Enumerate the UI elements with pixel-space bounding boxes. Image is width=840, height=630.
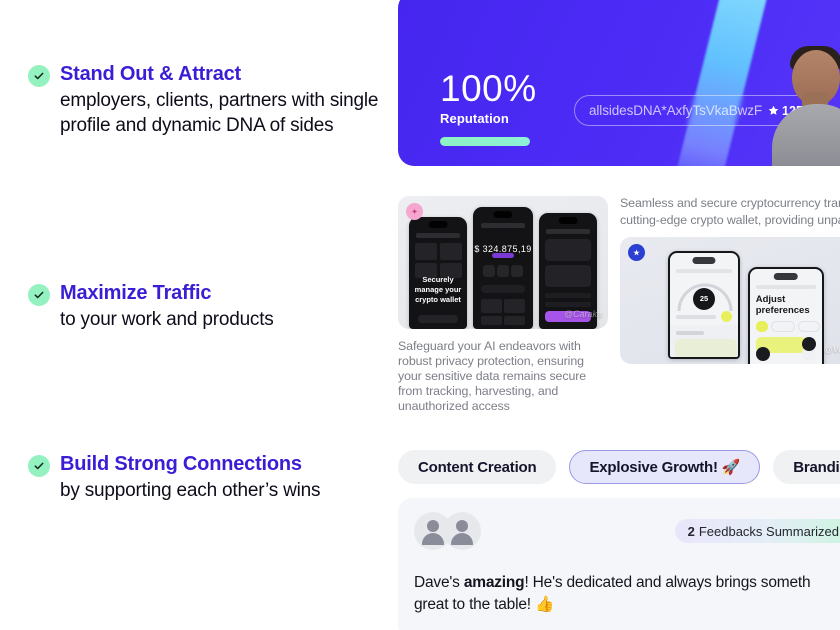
feedback-header: 2 Feedbacks Summarized bbox=[414, 512, 840, 550]
phone-caption: Securely manage your crypto wallet bbox=[414, 275, 463, 305]
check-circle-icon bbox=[28, 65, 50, 87]
feedback-text-part1: Dave's bbox=[414, 574, 464, 591]
phone-mockup-gauge: 25 bbox=[668, 251, 740, 359]
watermark: @Voyager bbox=[824, 344, 840, 354]
feature-title: Maximize Traffic bbox=[60, 281, 388, 306]
features-column: Stand Out & Attract employers, clients, … bbox=[0, 0, 398, 630]
showcase-cards-row: ✦ Securely manage your crypto wallet bbox=[398, 196, 840, 428]
reputation-progress-bar bbox=[440, 137, 530, 146]
preferences-screenshot: ★ 25 bbox=[620, 237, 840, 364]
feature-description: to your work and products bbox=[60, 307, 388, 332]
reputation-label: Reputation bbox=[440, 111, 537, 126]
gauge-value: 25 bbox=[693, 288, 715, 310]
crypto-caption-line-2: cutting-edge crypto wallet, providing un… bbox=[620, 213, 840, 228]
user-avatar-icon bbox=[443, 512, 481, 550]
feedback-summary-badge: 2 Feedbacks Summarized bbox=[675, 519, 840, 543]
feedback-badge-label: Feedbacks Summarized bbox=[699, 524, 839, 539]
phone-title: Adjust preferences bbox=[756, 294, 822, 316]
feedback-text-part2: ! He's dedicated and always brings somet… bbox=[524, 574, 810, 591]
reputation-hero-card: 100% Reputation allsidesDNA*AxfyTsVkaBwz… bbox=[398, 0, 840, 166]
phone-mockup-1: Securely manage your crypto wallet bbox=[409, 217, 467, 329]
dna-code-text: allsidesDNA*AxfyTsVkaBwzF bbox=[589, 103, 762, 118]
reputation-percent: 100% bbox=[440, 70, 537, 108]
shield-badge-icon: ★ bbox=[628, 244, 645, 261]
feature-title: Build Strong Connections bbox=[60, 452, 388, 477]
phone-mockup-2: $ 324.875,19 bbox=[473, 207, 533, 329]
preview-column: 100% Reputation allsidesDNA*AxfyTsVkaBwz… bbox=[398, 0, 840, 630]
person-body bbox=[772, 104, 840, 166]
phone-mockups: 25 Adjust preferences bbox=[620, 237, 840, 364]
avatar-group bbox=[414, 512, 481, 550]
feedback-card: 2 Feedbacks Summarized Dave's amazing! H… bbox=[398, 498, 840, 630]
feedback-text: Dave's amazing! He's dedicated and alway… bbox=[414, 572, 840, 616]
watermark: @Caraka bbox=[564, 309, 602, 319]
feedback-count: 2 bbox=[688, 524, 695, 539]
chip-explosive-growth[interactable]: Explosive Growth! 🚀 bbox=[569, 450, 760, 484]
feature-item-stand-out: Stand Out & Attract employers, clients, … bbox=[28, 62, 388, 138]
privacy-card-caption: Safeguard your AI endeavors with robust … bbox=[398, 339, 608, 414]
feature-item-build-connections: Build Strong Connections by supporting e… bbox=[28, 452, 388, 503]
feedback-text-bold: amazing bbox=[464, 574, 525, 591]
feature-title: Stand Out & Attract bbox=[60, 62, 388, 87]
crypto-caption-line-1: Seamless and secure cryptocurrency trans… bbox=[620, 196, 840, 211]
landing-page: Stand Out & Attract employers, clients, … bbox=[0, 0, 840, 630]
profile-photo bbox=[754, 41, 840, 166]
privacy-showcase-card[interactable]: ✦ Securely manage your crypto wallet bbox=[398, 196, 608, 414]
check-circle-icon bbox=[28, 284, 50, 306]
chip-branding[interactable]: Branding bbox=[773, 450, 840, 484]
phone-mockup-preferences: Adjust preferences bbox=[748, 267, 824, 364]
feedback-text-line2: great to the table! 👍 bbox=[414, 596, 554, 613]
crypto-showcase-card[interactable]: Seamless and secure cryptocurrency trans… bbox=[620, 196, 840, 364]
check-circle-icon bbox=[28, 455, 50, 477]
sparkle-badge-icon: ✦ bbox=[406, 203, 423, 220]
category-chips: Content Creation Explosive Growth! 🚀 Bra… bbox=[398, 450, 840, 484]
feature-description: employers, clients, partners with single… bbox=[60, 88, 388, 138]
chip-content-creation[interactable]: Content Creation bbox=[398, 450, 556, 484]
crypto-wallet-screenshot: ✦ Securely manage your crypto wallet bbox=[398, 196, 608, 329]
feature-description: by supporting each other’s wins bbox=[60, 478, 388, 503]
feature-item-maximize-traffic: Maximize Traffic to your work and produc… bbox=[28, 281, 388, 332]
reputation-stat: 100% Reputation bbox=[440, 70, 537, 146]
